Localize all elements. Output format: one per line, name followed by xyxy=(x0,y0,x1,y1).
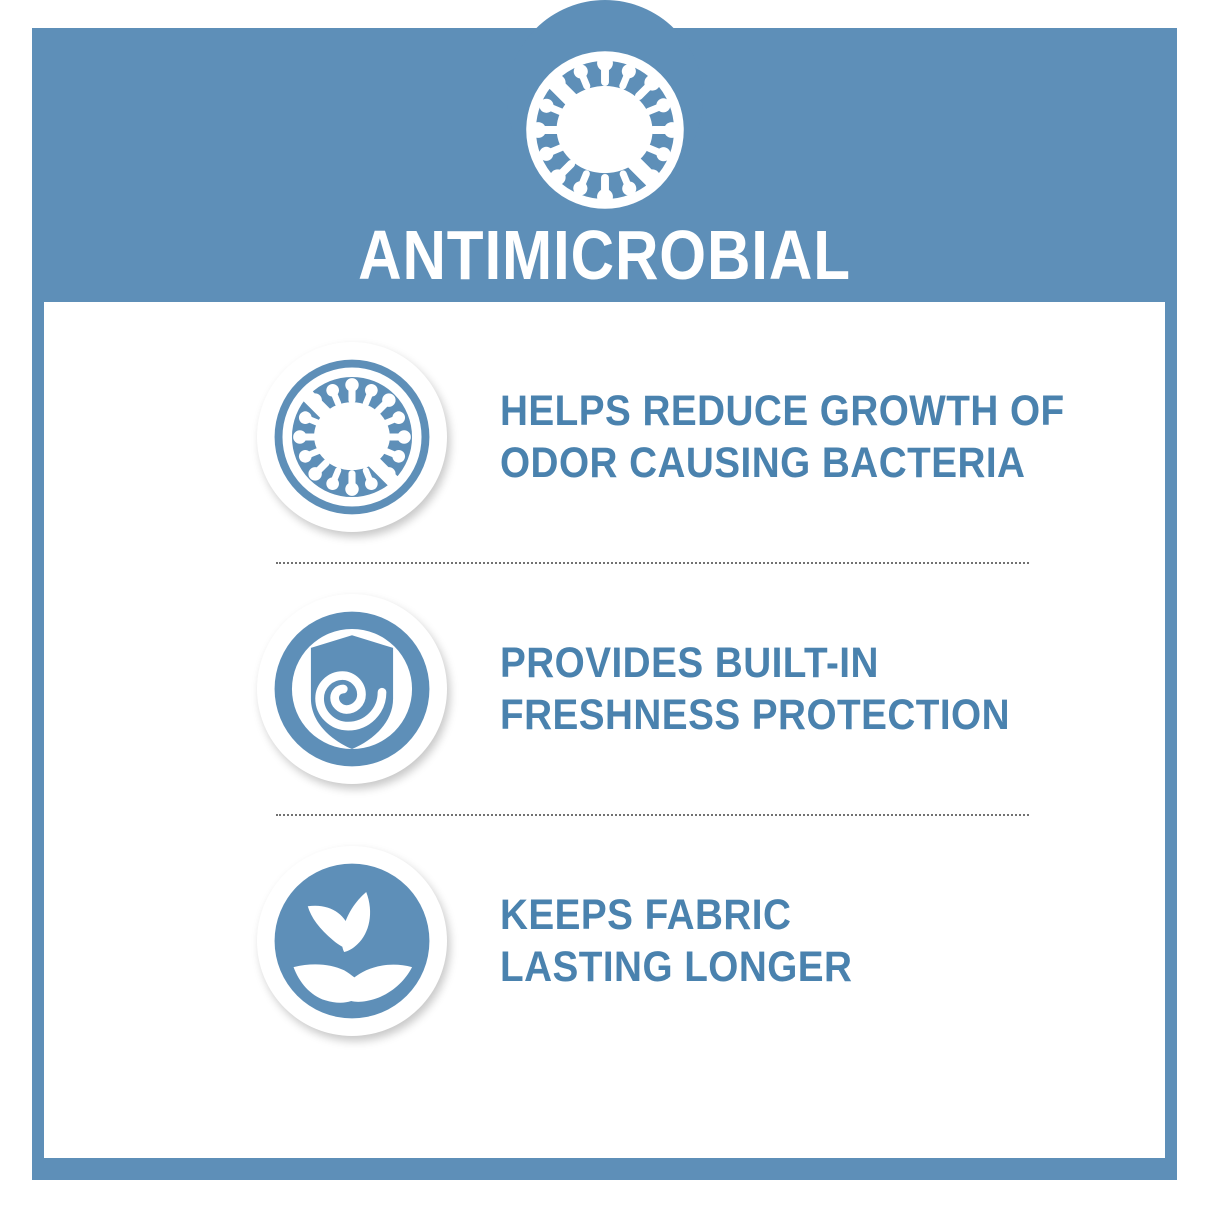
feature-text-line-2: LASTING LONGER xyxy=(500,941,852,993)
feature-text-line-1: HELPS REDUCE GROWTH OF xyxy=(500,385,1065,437)
page-title: ANTIMICROBIAL xyxy=(112,218,1097,292)
blue-frame-panel: ANTIMICROBIAL xyxy=(32,28,1177,1180)
feature-text-line-1: PROVIDES BUILT-IN xyxy=(500,637,1010,689)
features-list: HELPS REDUCE GROWTH OF ODOR CAUSING BACT… xyxy=(44,302,1165,1158)
feature-text-line-2: FRESHNESS PROTECTION xyxy=(500,689,1010,741)
feature-text: PROVIDES BUILT-IN FRESHNESS PROTECTION xyxy=(500,637,1010,741)
features-card: HELPS REDUCE GROWTH OF ODOR CAUSING BACT… xyxy=(44,302,1165,1158)
feature-row: HELPS REDUCE GROWTH OF ODOR CAUSING BACT… xyxy=(44,312,1165,562)
feature-text-line-2: ODOR CAUSING BACTERIA xyxy=(500,437,1065,489)
feature-icon-badge xyxy=(257,342,447,532)
virus-blocked-icon xyxy=(273,358,431,516)
feature-text: HELPS REDUCE GROWTH OF ODOR CAUSING BACT… xyxy=(500,385,1065,489)
shield-spiral-icon xyxy=(273,610,431,768)
leaf-sprout-icon xyxy=(273,862,431,1020)
feature-text: KEEPS FABRIC LASTING LONGER xyxy=(500,889,852,993)
feature-row: KEEPS FABRIC LASTING LONGER xyxy=(44,816,1165,1066)
feature-icon-badge xyxy=(257,594,447,784)
virus-blocked-icon xyxy=(517,42,693,218)
feature-text-line-1: KEEPS FABRIC xyxy=(500,889,852,941)
feature-row: PROVIDES BUILT-IN FRESHNESS PROTECTION xyxy=(44,564,1165,814)
feature-icon-badge xyxy=(257,846,447,1036)
infographic-root: ANTIMICROBIAL xyxy=(0,0,1214,1214)
header-banner: ANTIMICROBIAL xyxy=(32,28,1177,302)
